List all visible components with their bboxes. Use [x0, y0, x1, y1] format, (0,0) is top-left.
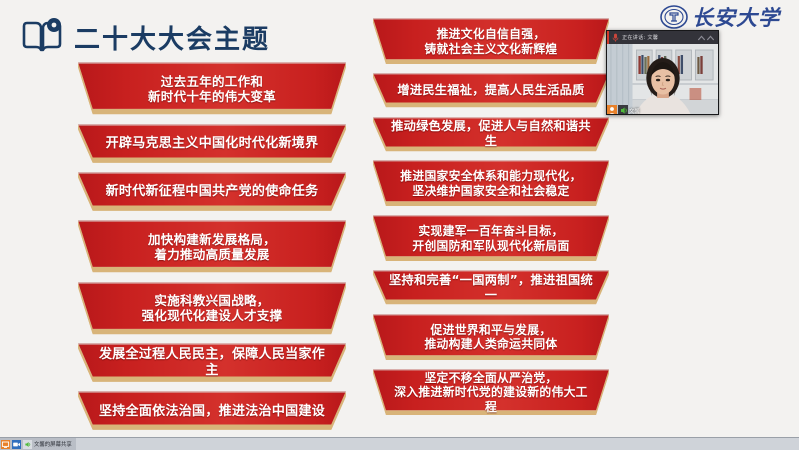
participant-name-chip: 文馨: [607, 105, 643, 115]
banner-shape: [373, 73, 609, 108]
banner-shape: [373, 215, 609, 262]
screen-share-icon[interactable]: [1, 440, 10, 449]
banner-shape: [373, 18, 609, 65]
banner-shape: [78, 282, 346, 336]
watermark-text: 长安大学: [692, 2, 780, 32]
topic-banner: 加快构建新发展格局，着力推动高质量发展: [78, 220, 346, 274]
topic-banner: 推动绿色发展，促进人与自然和谐共生: [373, 117, 609, 152]
topic-banner: 发展全过程人民民主，保障人民当家作主: [78, 343, 346, 383]
slide-title-row: 二十大大会主题: [20, 18, 270, 56]
topic-banner: 开辟马克思主义中国化时代化新境界: [78, 124, 346, 164]
banner-shape: [373, 369, 609, 416]
video-feed-container[interactable]: 文馨: [607, 44, 718, 115]
participant-video-panel[interactable]: 正在讲话: 文馨: [606, 30, 719, 115]
topic-banner: 促进世界和平与发展，推动构建人类命运共同体: [373, 314, 609, 361]
banner-shape: [78, 343, 346, 383]
topic-banner: 增进民生福祉，提高人民生活品质: [373, 73, 609, 108]
topic-banner: 实现建军一百年奋斗目标，开创国防和军队现代化新局面: [373, 215, 609, 262]
microphone-icon: [612, 33, 619, 42]
screen-share-indicator[interactable]: 文馨的屏幕共享: [0, 438, 76, 450]
topic-banner: 推进文化自信自强，铸就社会主义文化新辉煌: [373, 18, 609, 65]
banner-shape: [78, 172, 346, 212]
banner-column-left: 过去五年的工作和新时代十年的伟大变革开辟马克思主义中国化时代化新境界新时代新征程…: [78, 62, 346, 440]
video-panel-header[interactable]: 正在讲话: 文馨: [607, 31, 718, 44]
participant-name-label: 文馨: [629, 107, 640, 115]
topic-banner: 过去五年的工作和新时代十年的伟大变革: [78, 62, 346, 116]
banner-shape: [373, 314, 609, 361]
topic-banner: 实施科教兴国战略，强化现代化建设人才支撑: [78, 282, 346, 336]
banner-shape: [78, 62, 346, 116]
topic-banner: 坚持和完善“一国两制”，推进祖国统一: [373, 270, 609, 305]
speaking-status-label: 正在讲话: 文馨: [622, 34, 658, 41]
banner-shape: [78, 220, 346, 274]
topic-banner: 推进国家安全体系和能力现代化，坚决维护国家安全和社会稳定: [373, 160, 609, 207]
audio-on-icon: [618, 105, 628, 115]
university-seal-icon: [659, 2, 689, 32]
banner-shape: [373, 270, 609, 305]
banner-column-right: 推进文化自信自强，铸就社会主义文化新辉煌增进民生福祉，提高人民生活品质推动绿色发…: [373, 18, 609, 424]
screen-share-label: 文馨的屏幕共享: [34, 440, 72, 448]
banner-shape: [373, 117, 609, 152]
topic-banner: 坚持全面依法治国，推进法治中国建设: [78, 391, 346, 431]
banner-shape: [78, 124, 346, 164]
screen-share-taskbar[interactable]: 文馨的屏幕共享: [0, 437, 799, 450]
participant-avatar-icon: [607, 105, 617, 115]
banner-shape: [78, 391, 346, 431]
page-title: 二十大大会主题: [74, 19, 270, 56]
screen-share-window: 二十大大会主题 过去五年的工作和新时代十年的伟大变革开辟马克思主义中国化时代化新…: [0, 0, 799, 450]
video-icon[interactable]: [12, 440, 21, 449]
topic-banner: 新时代新征程中国共产党的使命任务: [78, 172, 346, 212]
chevron-collapse-icon[interactable]: [698, 35, 705, 41]
video-panel-controls[interactable]: [698, 35, 714, 41]
open-book-icon: [20, 18, 64, 56]
university-watermark: 长安大学: [659, 0, 793, 34]
chevron-collapse-icon[interactable]: [707, 35, 714, 41]
banner-shape: [373, 160, 609, 207]
audio-on-icon[interactable]: [23, 440, 32, 449]
topic-banner: 坚定不移全面从严治党，深入推进新时代党的建设新的伟大工程: [373, 369, 609, 416]
